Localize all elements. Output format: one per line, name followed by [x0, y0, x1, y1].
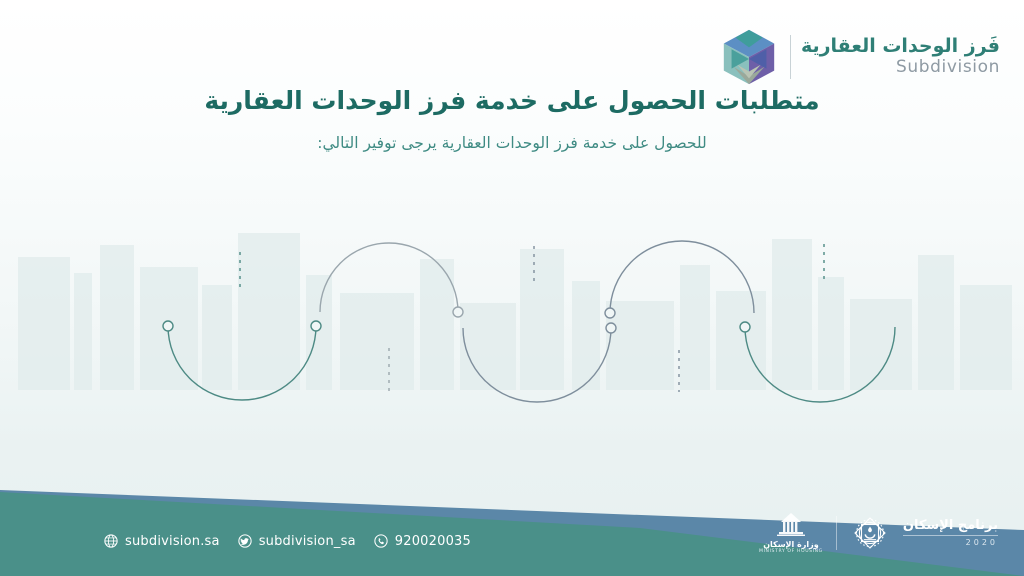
- housing-program-name: برنامج الإسكان: [903, 519, 998, 532]
- vision-2030-emblem-icon: [850, 513, 890, 553]
- ministry-of-housing-icon: [771, 512, 811, 538]
- brand-name-ar: فَرز الوحدات العقارية: [801, 37, 1000, 57]
- contact-twitter-value: subdivision_sa: [259, 534, 356, 549]
- contact-website[interactable]: subdivision.sa: [104, 534, 220, 549]
- contact-phone-value: 920020035: [395, 534, 471, 549]
- page-title: متطلبات الحصول على خدمة فرز الوحدات العق…: [0, 86, 1024, 115]
- brand-logo: فَرز الوحدات العقارية Subdivision: [718, 26, 1000, 88]
- housing-program-text: برنامج الإسكان 2020: [903, 519, 998, 547]
- housing-program-year: 2020: [903, 535, 998, 547]
- ministry-of-housing-logo: وزارة الإسكان MINISTRY OF HOUSING: [759, 512, 823, 554]
- brand-text: فَرز الوحدات العقارية Subdivision: [801, 37, 1000, 77]
- cube-logo-icon: [718, 26, 780, 88]
- page-subtitle: للحصول على خدمة فرز الوحدات العقارية يرج…: [0, 134, 1024, 152]
- brand-divider: [790, 35, 791, 79]
- footer-logo-divider: [836, 516, 837, 550]
- brand-name-en: Subdivision: [801, 59, 1000, 77]
- contact-phone[interactable]: 920020035: [374, 534, 471, 549]
- ministry-text: وزارة الإسكان MINISTRY OF HOUSING: [759, 540, 823, 554]
- ministry-name-en: MINISTRY OF HOUSING: [759, 549, 823, 554]
- ministry-name-ar: وزارة الإسكان: [759, 540, 823, 549]
- twitter-icon: [238, 534, 252, 548]
- contact-twitter[interactable]: subdivision_sa: [238, 534, 356, 549]
- globe-icon: [104, 534, 118, 548]
- footer-contacts: subdivision.sa subdivision_sa 920020035: [0, 530, 470, 552]
- footer-logos: برنامج الإسكان 2020: [759, 512, 998, 554]
- contact-website-value: subdivision.sa: [125, 534, 220, 549]
- phone-icon: [374, 534, 388, 548]
